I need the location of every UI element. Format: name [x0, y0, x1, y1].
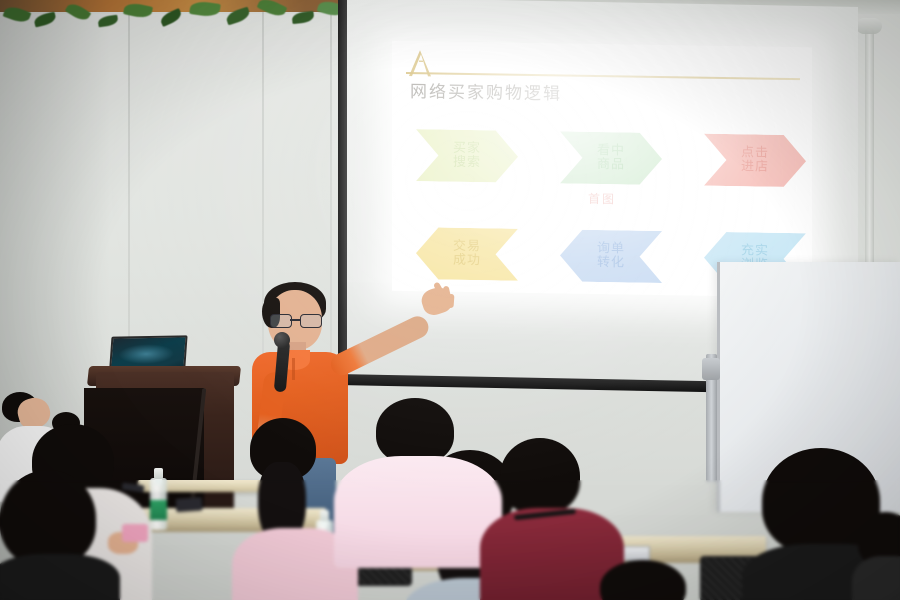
- attendee-hair: [376, 398, 454, 464]
- slide-title: 网络买家购物逻辑: [410, 77, 562, 104]
- flow-step-label-line2: 成功: [453, 254, 481, 268]
- attendee-top: [0, 554, 120, 600]
- attendee-maroon-woman: [486, 438, 616, 600]
- attendee-far-right-man: [858, 512, 900, 600]
- wall-pipe: [865, 28, 874, 278]
- attendee-hair: [0, 470, 96, 566]
- flow-step-inquiry-conversion: 询单 转化: [560, 229, 662, 283]
- projected-slide: 网络买家购物逻辑 买家 搜索 看中 商品 点击 进店 首图: [392, 41, 812, 298]
- leaf-icon: [97, 15, 118, 28]
- wall-pipe-cap: [856, 18, 882, 34]
- flow-step-transaction-success: 交易 成功: [416, 227, 518, 281]
- decorative-vines: [0, 0, 360, 40]
- flow-step-label-line2: 搜索: [453, 156, 481, 170]
- flow-row-top: 买家 搜索 看中 商品 点击 进店: [392, 129, 812, 188]
- flow-step-buyer-search: 买家 搜索: [416, 129, 518, 183]
- glasses-lens-right: [300, 314, 322, 328]
- glasses-lens-left: [270, 314, 292, 328]
- whiteboard-bracket: [702, 358, 720, 380]
- leaf-icon: [189, 0, 221, 18]
- flow-step-label-line2: 商品: [597, 158, 625, 172]
- attendee-hair: [600, 560, 686, 600]
- flow-step-label-line2: 进店: [741, 160, 769, 174]
- presenter-finger: [448, 294, 455, 308]
- glasses-icon: [270, 314, 320, 326]
- attendee-phone: [122, 524, 148, 542]
- attendee-front-left-woman: [0, 470, 120, 600]
- flow-step-click-enter-store: 点击 进店: [704, 134, 806, 188]
- annotation-main-image: 首图: [588, 190, 616, 207]
- presenter-raised-arm: [327, 313, 432, 379]
- glasses-bridge: [290, 319, 300, 321]
- attendee-pink-shirt-man: [334, 398, 494, 558]
- microphone-head: [274, 332, 290, 348]
- attendee-top: [334, 456, 502, 568]
- classroom-photo-scene: 网络买家购物逻辑 买家 搜索 看中 商品 点击 进店 首图: [0, 0, 900, 600]
- flow-step-view-product: 看中 商品: [560, 131, 662, 185]
- attendee-lower-right: [600, 560, 690, 600]
- flow-step-label-line2: 转化: [597, 256, 625, 270]
- leaf-icon: [33, 12, 57, 28]
- leaf-icon: [291, 11, 314, 24]
- attendee-hair: [500, 438, 580, 514]
- attendee-top: [852, 556, 900, 600]
- laptop-screen-glow: [118, 344, 175, 365]
- presenter-placket: [292, 358, 295, 380]
- smartphone-icon: [176, 497, 203, 512]
